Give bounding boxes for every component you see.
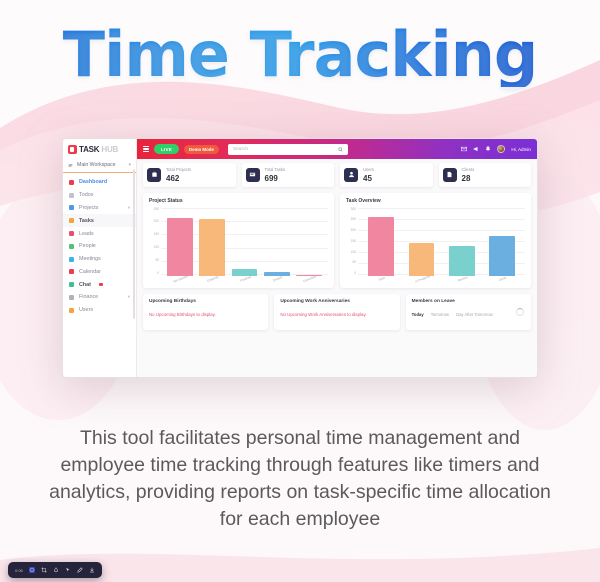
todos-icon [69,193,74,198]
sidebar-item-users[interactable]: Users [63,304,136,317]
card-members-on-leave: Members on Leave Today Tomorrow Day Afte… [406,294,531,330]
stat-card-total-projects[interactable]: Total Projects 462 [143,163,236,187]
sidebar-item-label: Tasks [79,218,94,224]
crop-icon[interactable] [41,567,47,573]
workspace-icon [68,163,73,168]
y-tick: 0 [354,272,356,275]
bars [358,208,525,276]
sidebar-item-label: Meetings [79,256,101,262]
stat-value: 45 [363,174,374,183]
clients-icon [443,168,457,182]
sidebar-item-finance[interactable]: Finance ▾ [63,291,136,304]
y-tick: 300 [351,208,356,211]
bottom-cards-row: Upcoming Birthdays No Upcoming Birthdays… [143,294,531,330]
y-tick: 250 [351,218,356,221]
bar[interactable] [409,243,435,276]
chat-unread-badge [99,283,103,287]
y-tick: 50 [155,259,159,262]
bar[interactable] [368,217,394,275]
y-tick: 150 [351,240,356,243]
stat-label: Users [363,167,374,172]
y-tick: 100 [154,246,159,249]
megaphone-icon[interactable] [473,146,479,152]
sidebar-item-label: Projects [79,205,98,211]
charts-row: Project Status 250 200 150 100 50 0 [143,193,531,288]
hero-header: Time Tracking [0,22,600,87]
stat-card-users[interactable]: Users 45 [340,163,433,187]
bar[interactable] [199,219,225,276]
card-title: Members on Leave [412,299,525,304]
sidebar-item-label: Dashboard [79,179,107,185]
sidebar-item-people[interactable]: People [63,240,136,253]
sidebar-item-label: Finance [79,294,98,300]
sidebar-item-label: Chat [79,282,91,288]
stat-cards: Total Projects 462 Total Tasks 699 [143,163,531,187]
plot-area: Todo In Progress Review Done [358,208,525,284]
sidebar-item-label: Calendar [79,269,101,275]
dashboard-icon [69,180,74,185]
tab-today[interactable]: Today [412,312,424,317]
sidebar-item-label: Todos [79,192,93,198]
stat-card-clients[interactable]: Clients 28 [439,163,532,187]
users-icon [69,308,74,313]
topbar-actions: Hi, Admin [461,145,531,153]
meetings-icon [69,257,74,262]
tasks-icon [69,218,74,223]
bars [161,208,328,276]
sidebar-item-meetings[interactable]: Meetings [63,253,136,266]
demo-mode-badge[interactable]: Demo Mode [184,145,219,154]
mail-icon[interactable] [461,146,467,152]
stat-card-total-tasks[interactable]: Total Tasks 699 [242,163,335,187]
dashboard-screenshot: TASK HUB Main Workspace ▾ Dashboard Todo… [62,138,538,378]
top-navbar: LIVE Demo Mode Search Hi, Admin [137,139,537,159]
sidebar-item-calendar[interactable]: Calendar [63,265,136,278]
card-upcoming-work-anniversaries: Upcoming Work Anniversaries No Upcoming … [274,294,399,330]
x-axis: Not Started Ongoing Finished Onhold Canc… [161,276,328,284]
caption-text: This tool facilitates personal time mana… [0,425,600,533]
workspace-selector[interactable]: Main Workspace ▾ [63,159,136,173]
hamburger-menu-icon[interactable] [143,146,149,152]
chevron-down-icon: ▾ [128,294,130,300]
stat-value: 28 [462,174,475,183]
chart-card-project-status: Project Status 250 200 150 100 50 0 [143,193,334,288]
bar[interactable] [167,218,193,276]
main-pane: LIVE Demo Mode Search Hi, Admin [137,139,537,377]
search-input[interactable]: Search [228,144,348,155]
briefcase-icon [147,168,161,182]
sidebar-item-todos[interactable]: Todos [63,189,136,202]
card-title: Upcoming Birthdays [149,299,262,304]
chart-card-task-overview: Task Overview 300 250 200 150 100 50 0 [340,193,531,288]
workspace-label: Main Workspace [77,162,116,168]
y-tick: 0 [157,272,159,275]
sidebar-item-tasks[interactable]: Tasks [63,214,136,227]
app-logo[interactable]: TASK HUB [63,139,136,159]
stat-value: 462 [166,174,191,183]
leads-icon [69,231,74,236]
chevron-down-icon: ▾ [128,162,131,168]
leave-tabs: Today Tomorrow Day After Tomorrow [412,312,525,317]
sidebar-item-projects[interactable]: Projects ▾ [63,202,136,215]
bar[interactable] [449,246,475,275]
sidebar-scrollbar[interactable] [133,169,135,319]
chart-title: Task Overview [346,198,525,204]
stat-label: Total Tasks [265,167,286,172]
bell-icon[interactable] [485,146,491,152]
tasks-card-icon [246,168,260,182]
logo-secondary-text: HUB [101,145,118,154]
chart-title: Project Status [149,198,328,204]
stat-label: Clients [462,167,475,172]
dashboard-body: Total Projects 462 Total Tasks 699 [137,159,537,377]
sidebar-item-leads[interactable]: Leads [63,227,136,240]
tab-tomorrow[interactable]: Tomorrow [431,312,449,317]
x-axis: Todo In Progress Review Done [358,276,525,284]
user-icon [344,168,358,182]
blur-icon[interactable] [53,567,59,573]
card-upcoming-birthdays: Upcoming Birthdays No Upcoming Birthdays… [143,294,268,330]
status-badge[interactable]: LIVE [154,144,179,153]
y-axis: 250 200 150 100 50 0 [149,208,161,284]
search-icon [338,147,343,152]
logo-mark-icon [68,145,77,154]
recording-time: 0:06 [15,568,23,573]
logo-primary-text: TASK [79,145,99,154]
download-icon[interactable] [89,567,95,573]
search-placeholder: Search [233,147,334,152]
projects-icon [69,205,74,210]
calendar-icon [69,269,74,274]
empty-message: No Upcoming Work Anniversaries to displa… [280,312,393,317]
page-title: Time Tracking [0,22,600,87]
y-tick: 250 [154,208,159,211]
task-overview-chart: 300 250 200 150 100 50 0 [346,208,525,284]
plot-area: Not Started Ongoing Finished Onhold Canc… [161,208,328,284]
chevron-down-icon: ▾ [128,205,130,211]
sidebar-item-label: Users [79,307,93,313]
loading-spinner-icon [516,308,524,316]
tab-day-after-tomorrow[interactable]: Day After Tomorrow [456,312,493,317]
sidebar-item-label: Leads [79,231,94,237]
y-tick: 200 [154,220,159,223]
y-axis: 300 250 200 150 100 50 0 [346,208,358,284]
bar[interactable] [489,236,515,276]
y-tick: 50 [352,261,356,264]
y-tick: 100 [351,251,356,254]
chat-icon [69,282,74,287]
y-tick: 200 [351,229,356,232]
avatar[interactable] [497,145,505,153]
sidebar-item-label: People [79,243,96,249]
user-greeting[interactable]: Hi, Admin [511,147,531,152]
y-tick: 150 [154,233,159,236]
cursor-icon[interactable] [65,567,71,573]
sidebar: TASK HUB Main Workspace ▾ Dashboard Todo… [63,139,137,377]
sidebar-item-dashboard[interactable]: Dashboard [63,176,136,189]
finance-icon [69,295,74,300]
stat-value: 699 [265,174,286,183]
stat-label: Total Projects [166,167,191,172]
select-icon[interactable] [29,567,35,573]
empty-message: No Upcoming Birthdays to display. [149,312,262,317]
sidebar-nav: Dashboard Todos Projects ▾ Tasks Leads [63,173,136,377]
annotation-toolbar: 0:06 [8,562,102,578]
project-status-chart: 250 200 150 100 50 0 [149,208,328,284]
people-icon [69,244,74,249]
sidebar-item-chat[interactable]: Chat [63,278,136,291]
pen-icon[interactable] [77,567,83,573]
card-title: Upcoming Work Anniversaries [280,299,393,304]
